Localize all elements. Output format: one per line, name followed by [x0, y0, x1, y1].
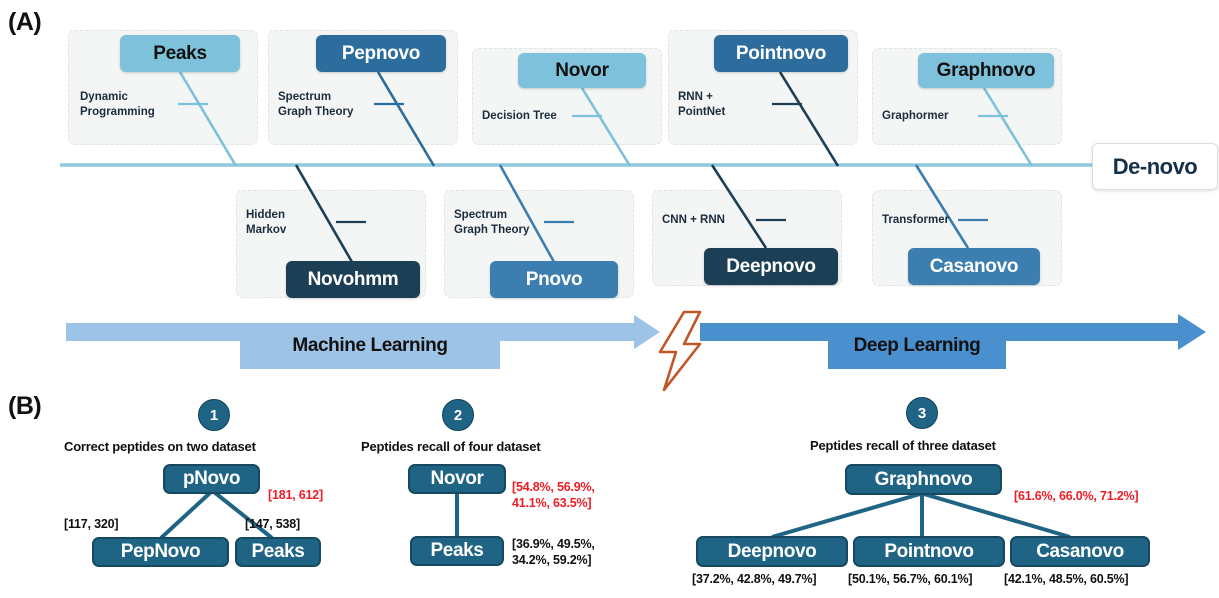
method-hidden-markov: Hidden Markov [246, 208, 286, 238]
method-dynamic-programming: Dynamic Programming [80, 90, 155, 120]
chip-novohmm-label: Novohmm [308, 269, 399, 291]
machine-learning-label: Machine Learning [240, 323, 500, 369]
node-deepnovo-g3[interactable]: Deepnovo [696, 536, 848, 567]
node-peaks-g1[interactable]: Peaks [235, 537, 321, 567]
branch-line-pepnovo [378, 72, 434, 166]
era-arrows [0, 310, 1219, 395]
values-graphnovo-text: [61.6%, 66.0%, 71.2%] [1014, 489, 1138, 503]
branch-line-casanovo [916, 165, 968, 248]
edge-pnovo-pepnovo [161, 492, 211, 538]
branch-line-deepnovo [712, 165, 766, 248]
values-novor-text: [54.8%, 56.9%, 41.1%, 63.5%] [512, 480, 595, 510]
values-pnovo-text: [181, 612] [268, 488, 323, 502]
chip-graphnovo[interactable]: Graphnovo [918, 53, 1054, 88]
comparison-badge-3: 3 [906, 397, 938, 429]
method-transformer: Transformer [882, 213, 949, 228]
values-pointnovo-g3: [50.1%, 56.7%, 60.1%] [848, 571, 972, 587]
node-novor[interactable]: Novor [408, 464, 506, 494]
branch-line-peaks [180, 72, 236, 166]
values-deepnovo-g3: [37.2%, 42.8%, 49.7%] [692, 571, 816, 587]
values-pnovo: [181, 612] [268, 471, 323, 503]
method-decision-tree: Decision Tree [482, 109, 557, 124]
node-novor-label: Novor [431, 468, 484, 490]
chip-peaks-label: Peaks [153, 43, 206, 65]
edge-graphnovo-deepnovo [772, 494, 920, 537]
branch-line-novohmm [296, 165, 352, 262]
comparison-badge-2-text: 2 [454, 407, 462, 424]
comparison-caption-2: Peptides recall of four dataset [361, 439, 540, 454]
comparison-badge-3-text: 3 [918, 405, 926, 422]
chip-graphnovo-label: Graphnovo [937, 60, 1036, 82]
comparison-badge-1-text: 1 [210, 407, 218, 424]
node-pepnovo-label: PepNovo [121, 541, 201, 563]
comparison-caption-3: Peptides recall of three dataset [810, 438, 996, 453]
chip-deepnovo-label: Deepnovo [726, 256, 815, 278]
method-spectrum-graph-theory-top: Spectrum Graph Theory [278, 90, 353, 120]
comparison-badge-2: 2 [442, 399, 474, 431]
values-peaks-g1: [147, 538] [245, 516, 300, 532]
values-novor: [54.8%, 56.9%, 41.1%, 63.5%] [512, 463, 595, 511]
chip-pepnovo[interactable]: Pepnovo [316, 35, 446, 72]
node-pointnovo-g3[interactable]: Pointnovo [853, 536, 1005, 567]
values-casanovo-g3: [42.1%, 48.5%, 60.5%] [1004, 571, 1128, 587]
comparison-badge-1: 1 [198, 399, 230, 431]
method-spectrum-graph-theory-bottom: Spectrum Graph Theory [454, 208, 529, 238]
chip-peaks[interactable]: Peaks [120, 35, 240, 72]
chip-pointnovo-label: Pointnovo [736, 43, 826, 65]
values-peaks-g2: [36.9%, 49.5%, 34.2%, 59.2%] [512, 536, 595, 568]
node-casanovo-g3[interactable]: Casanovo [1010, 536, 1150, 567]
branch-line-graphnovo [984, 88, 1032, 166]
node-peaks-g2-label: Peaks [431, 540, 484, 562]
method-cnn-rnn: CNN + RNN [662, 213, 725, 228]
node-peps-pepnovo[interactable]: PepNovo [92, 537, 229, 567]
de-novo-text: De-novo [1113, 154, 1198, 180]
node-deepnovo-g3-label: Deepnovo [728, 541, 817, 563]
chip-pointnovo[interactable]: Pointnovo [714, 35, 848, 72]
node-pointnovo-g3-label: Pointnovo [884, 541, 973, 563]
node-graphnovo-label: Graphnovo [875, 469, 973, 491]
node-graphnovo[interactable]: Graphnovo [845, 464, 1002, 495]
deep-learning-text: Deep Learning [854, 335, 981, 357]
era-band: Machine Learning Deep Learning [0, 310, 1219, 395]
de-novo-head-label: De-novo [1092, 143, 1218, 190]
comparison-caption-1: Correct peptides on two dataset [64, 439, 256, 454]
method-rnn-pointnet: RNN + PointNet [678, 90, 725, 120]
chip-pepnovo-label: Pepnovo [342, 43, 420, 65]
node-pnovo-label: pNovo [183, 468, 240, 490]
chip-pnovo[interactable]: Pnovo [490, 261, 618, 298]
comparison-section: 1 Correct peptides on two dataset pNovo … [0, 395, 1219, 598]
chip-pnovo-label: Pnovo [526, 269, 583, 291]
values-pepnovo: [117, 320] [64, 516, 118, 532]
chip-deepnovo[interactable]: Deepnovo [704, 248, 838, 285]
chip-casanovo[interactable]: Casanovo [908, 248, 1040, 285]
node-casanovo-g3-label: Casanovo [1036, 541, 1124, 563]
node-peaks-g2[interactable]: Peaks [410, 536, 504, 566]
deep-learning-label: Deep Learning [828, 323, 1006, 369]
fishbone-diagram: Peaks Pepnovo Novor Pointnovo Graphnovo … [0, 0, 1219, 310]
chip-novohmm[interactable]: Novohmm [286, 261, 420, 298]
method-graphormer: Graphormer [882, 109, 948, 124]
values-graphnovo: [61.6%, 66.0%, 71.2%] [1014, 472, 1138, 504]
branch-line-novor [582, 88, 630, 166]
branch-line-pointnovo [780, 72, 838, 166]
chip-novor-label: Novor [555, 60, 608, 82]
chip-casanovo-label: Casanovo [930, 256, 1018, 278]
lightning-bolt-icon [660, 312, 700, 390]
node-peaks-g1-label: Peaks [252, 541, 305, 563]
chip-novor[interactable]: Novor [518, 53, 646, 88]
node-pnovo[interactable]: pNovo [163, 464, 260, 494]
machine-learning-text: Machine Learning [292, 335, 447, 357]
